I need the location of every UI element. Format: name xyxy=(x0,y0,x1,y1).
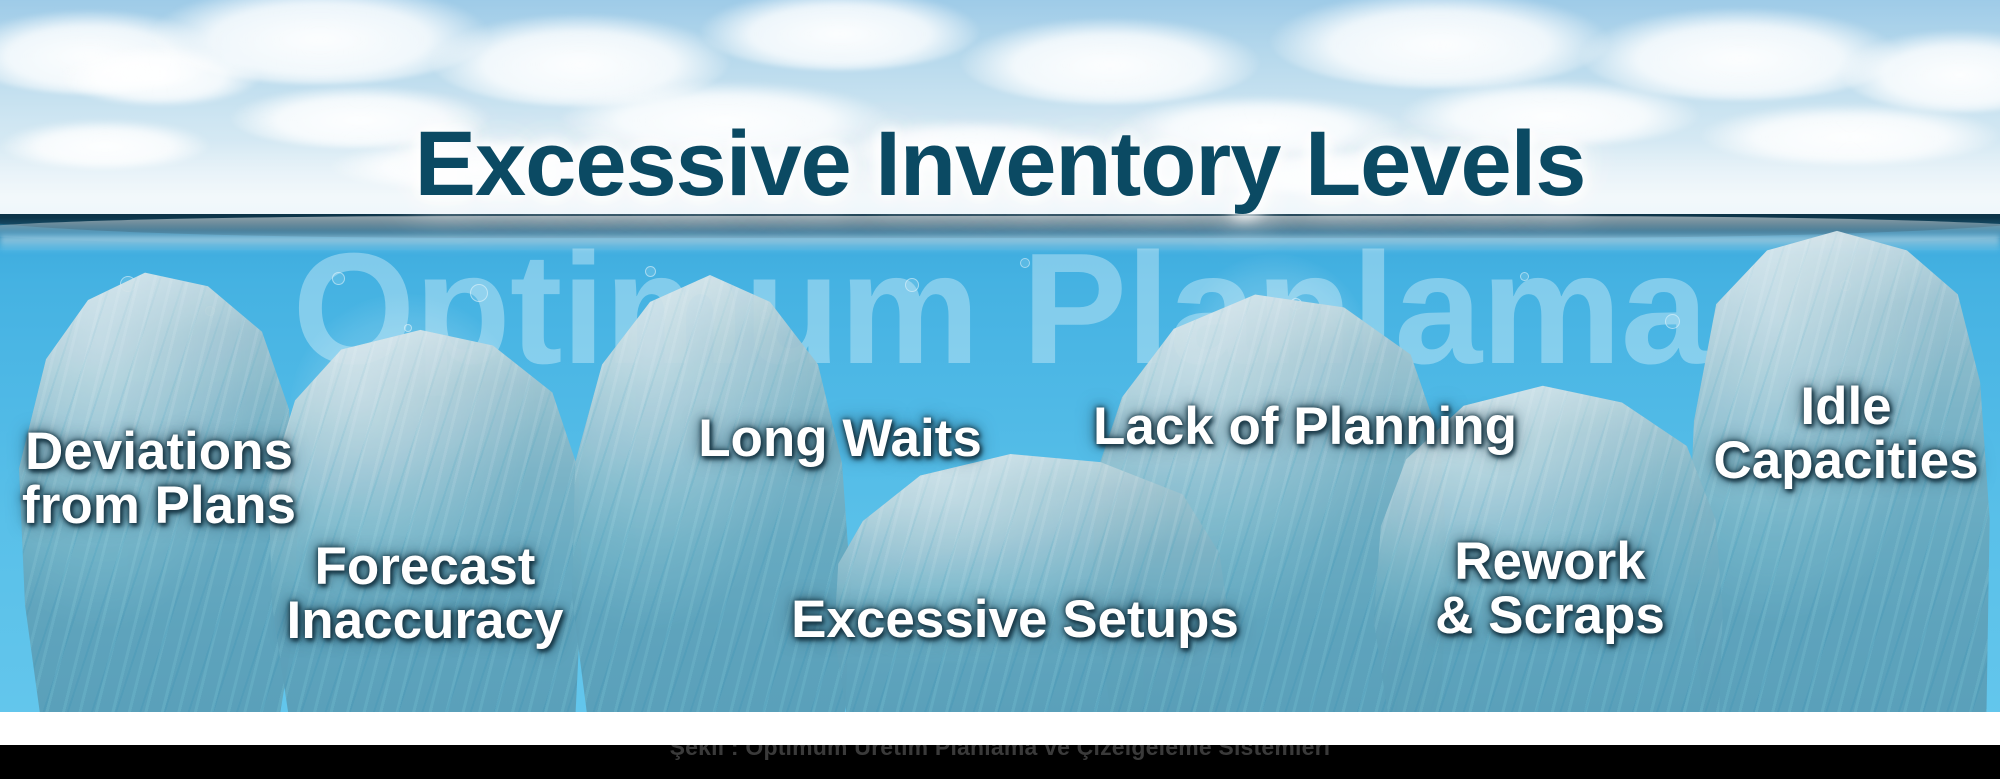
iceberg-long-waits xyxy=(560,266,860,714)
iceberg-infographic: Optimum Planlama Excessive Inventory Lev… xyxy=(0,0,2000,779)
footer-band: Şekil : Optimum Üretim Planlama ve Çizel… xyxy=(0,745,2000,779)
iceberg-group xyxy=(0,214,2000,714)
cloud-icon xyxy=(960,18,1260,104)
iceberg-idle-capacities xyxy=(1678,226,1996,714)
iceberg-forecast xyxy=(262,322,592,714)
page-title: Excessive Inventory Levels xyxy=(0,118,2000,210)
white-separator-band xyxy=(0,712,2000,745)
cloud-icon xyxy=(1270,0,1610,88)
iceberg-deviations xyxy=(10,259,310,714)
footer-caption: Şekil : Optimum Üretim Planlama ve Çizel… xyxy=(0,745,2000,761)
cloud-icon xyxy=(700,0,980,70)
